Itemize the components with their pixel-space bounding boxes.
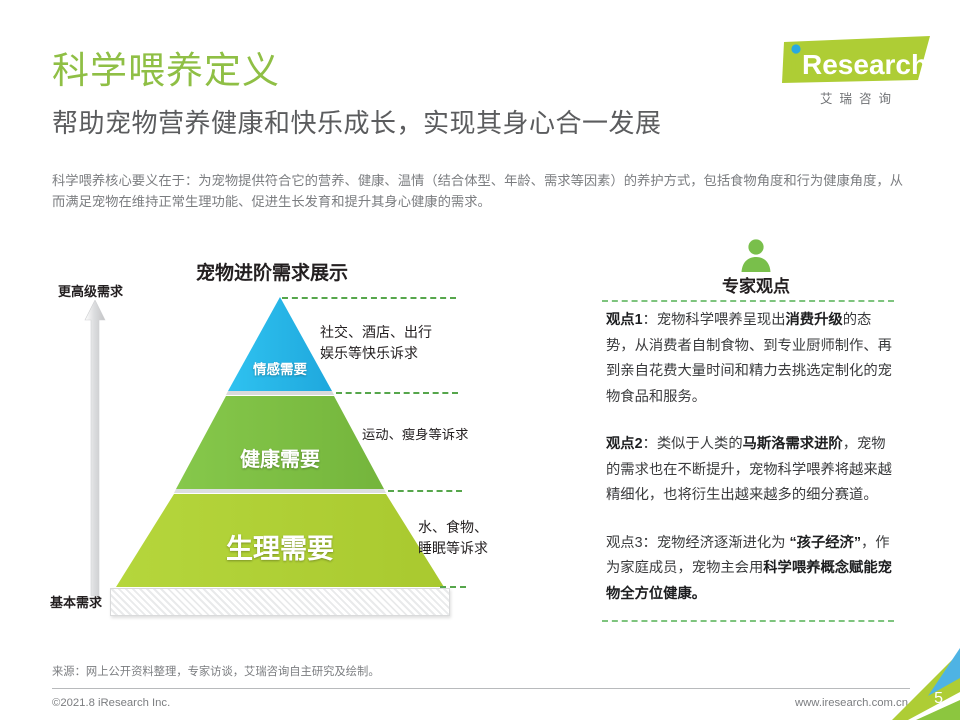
corner-decoration xyxy=(888,648,960,720)
expert-panel-rule-top xyxy=(602,300,894,302)
page-title: 科学喂养定义 xyxy=(52,52,280,89)
copyright-text: ©2021.8 iResearch Inc. xyxy=(52,697,170,709)
expert-panel-rule-bottom xyxy=(602,620,894,622)
callout-rule-top xyxy=(282,297,456,299)
person-icon xyxy=(739,238,773,272)
expert-panel-body: 观点1：宠物科学喂养呈现出消费升级的态势，从消费者自制食物、到专业厨师制作、再到… xyxy=(606,308,898,607)
callout-rule-mid-1 xyxy=(336,392,458,394)
svg-text:Research: Research xyxy=(802,49,928,80)
callout-emotional-line2: 娱乐等快乐诉求 xyxy=(320,343,432,364)
expert-opinion-panel: 专家观点 观点1：宠物科学喂养呈现出消费升级的态势，从消费者自制食物、到专业厨师… xyxy=(596,238,916,630)
chart-title: 宠物进阶需求展示 xyxy=(196,258,348,285)
pyramid-tier-label-health: 健康需要 xyxy=(205,443,355,472)
page-subtitle: 帮助宠物营养健康和快乐成长，实现其身心合一发展 xyxy=(52,110,662,136)
footer-divider xyxy=(52,688,910,689)
svg-text:i: i xyxy=(790,51,798,81)
callout-physiological: 水、食物、 睡眠等诉求 xyxy=(418,517,488,559)
callout-physiological-line2: 睡眠等诉求 xyxy=(418,538,488,559)
callout-emotional: 社交、酒店、出行 娱乐等快乐诉求 xyxy=(320,322,432,364)
iresearch-logo: i Research 艾瑞咨询 xyxy=(772,36,932,110)
pyramid-tier-label-emotional: 情感需要 xyxy=(230,358,330,378)
expert-panel-title: 专家观点 xyxy=(596,272,916,297)
callout-health-line1: 运动、瘦身等诉求 xyxy=(362,424,468,445)
logo-shape-icon: i Research xyxy=(772,36,932,86)
callout-physiological-line1: 水、食物、 xyxy=(418,517,488,538)
page-number: 5 xyxy=(934,690,943,708)
expert-point-2: 观点2：类似于人类的马斯洛需求进阶，宠物的需求也在不断提升，宠物科学喂养将越来越… xyxy=(606,432,898,509)
callout-emotional-line1: 社交、酒店、出行 xyxy=(320,322,432,343)
source-note: 来源：网上公开资料整理，专家访谈，艾瑞咨询自主研究及绘制。 xyxy=(52,663,380,679)
expert-point-3: 观点3：宠物经济逐渐进化为 “孩子经济”，作为家庭成员，宠物主会用科学喂养概念赋… xyxy=(606,531,898,608)
pyramid-tier-label-physiological: 生理需要 xyxy=(185,527,375,566)
callout-rule-mid-2 xyxy=(388,490,462,492)
lead-paragraph: 科学喂养核心要义在于：为宠物提供符合它的营养、健康、温情（结合体型、年龄、需求等… xyxy=(52,170,910,212)
logo-chinese-name: 艾瑞咨询 xyxy=(796,88,922,107)
slide-root: 科学喂养定义 帮助宠物营养健康和快乐成长，实现其身心合一发展 科学喂养核心要义在… xyxy=(0,0,960,720)
callout-health: 运动、瘦身等诉求 xyxy=(362,424,468,445)
expert-point-1: 观点1：宠物科学喂养呈现出消费升级的态势，从消费者自制食物、到专业厨师制作、再到… xyxy=(606,308,898,410)
callout-rule-bottom xyxy=(440,586,466,588)
